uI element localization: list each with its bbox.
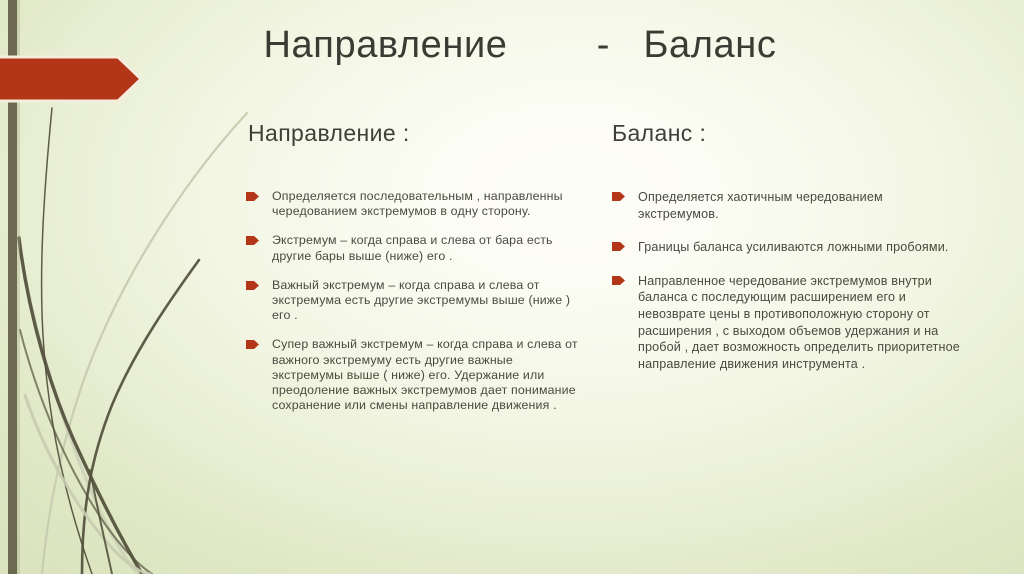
column-heading: Баланс : xyxy=(612,120,960,147)
arrow-bullet-icon xyxy=(612,276,625,285)
page-title: Направление - Баланс xyxy=(150,24,890,67)
arrow-bullet-icon xyxy=(246,236,259,245)
right-arrow-banner xyxy=(0,55,141,103)
column-napravlenie: Направление : Определяется последователь… xyxy=(246,120,586,427)
list-item: Определяется последовательным , направле… xyxy=(266,189,586,219)
list-item: Границы баланса усиливаются ложными проб… xyxy=(632,239,960,256)
list-item: Направленное чередование экстремумов вну… xyxy=(632,273,960,373)
column-heading: Направление : xyxy=(248,120,586,147)
list-item-text: Направленное чередование экстремумов вну… xyxy=(638,274,960,371)
bullet-list: Определяется хаотичным чередованием экст… xyxy=(610,189,960,372)
list-item: Экстремум – когда справа и слева от бара… xyxy=(266,233,586,263)
arrow-bullet-icon xyxy=(246,340,259,349)
list-item-text: Супер важный экстремум – когда справа и … xyxy=(272,337,578,412)
arrow-bullet-icon xyxy=(612,242,625,251)
list-item-text: Границы баланса усиливаются ложными проб… xyxy=(638,240,949,254)
list-item-text: Экстремум – когда справа и слева от бара… xyxy=(272,233,553,262)
list-item-text: Определяется последовательным , направле… xyxy=(272,189,563,218)
list-item: Определяется хаотичным чередованием экст… xyxy=(632,189,960,222)
list-item: Супер важный экстремум – когда справа и … xyxy=(266,337,586,413)
list-item-text: Важный экстремум – когда справа и слева … xyxy=(272,278,570,322)
list-item-text: Определяется хаотичным чередованием экст… xyxy=(638,190,883,221)
list-item: Важный экстремум – когда справа и слева … xyxy=(266,278,586,324)
column-balans: Баланс : Определяется хаотичным чередова… xyxy=(610,120,960,389)
slide-canvas: Направление - Баланс Направление : Опред… xyxy=(0,0,1024,574)
arrow-bullet-icon xyxy=(246,281,259,290)
bullet-list: Определяется последовательным , направле… xyxy=(246,189,586,413)
arrow-bullet-icon xyxy=(246,192,259,201)
arrow-bullet-icon xyxy=(612,192,625,201)
